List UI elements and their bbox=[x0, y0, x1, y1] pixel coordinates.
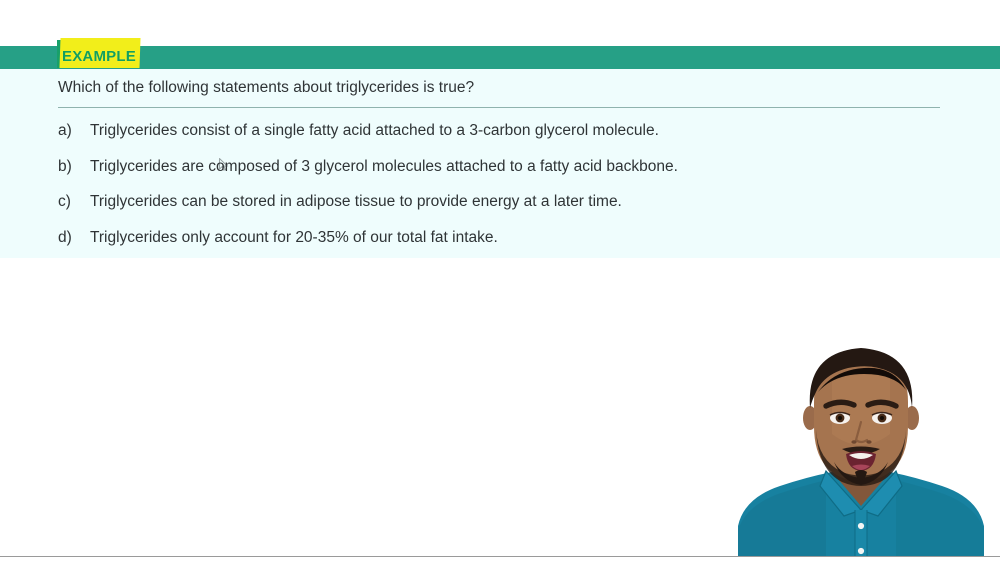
answer-option-a-text: Triglycerides consist of a single fatty … bbox=[90, 120, 659, 142]
presenter-video-overlay[interactable] bbox=[722, 330, 1000, 556]
answer-option-b-text: Triglycerides are composed of 3 glycerol… bbox=[90, 156, 678, 178]
example-label: EXAMPLE bbox=[62, 47, 136, 67]
lesson-slide: EXAMPLE Which of the following statement… bbox=[0, 0, 1000, 562]
answer-option-c-letter: c) bbox=[58, 191, 90, 213]
example-banner bbox=[0, 46, 1000, 69]
answer-option-c[interactable]: c) Triglycerides can be stored in adipos… bbox=[58, 191, 958, 227]
answer-option-a[interactable]: a) Triglycerides consist of a single fat… bbox=[58, 120, 958, 156]
answer-option-c-text: Triglycerides can be stored in adipose t… bbox=[90, 191, 622, 213]
answer-option-b-letter: b) bbox=[58, 156, 90, 178]
answer-option-d-text: Triglycerides only account for 20-35% of… bbox=[90, 227, 498, 249]
bottom-padding bbox=[0, 557, 1000, 562]
question-prompt: Which of the following statements about … bbox=[58, 77, 938, 99]
answer-options-list: a) Triglycerides consist of a single fat… bbox=[58, 120, 958, 262]
presenter-figure bbox=[722, 330, 1000, 556]
answer-option-d-letter: d) bbox=[58, 227, 90, 249]
question-divider bbox=[58, 107, 940, 108]
answer-option-a-letter: a) bbox=[58, 120, 90, 142]
answer-option-b[interactable]: b) Triglycerides are composed of 3 glyce… bbox=[58, 156, 958, 192]
top-white-strip bbox=[0, 0, 1000, 46]
mouse-cursor-icon bbox=[219, 158, 229, 171]
